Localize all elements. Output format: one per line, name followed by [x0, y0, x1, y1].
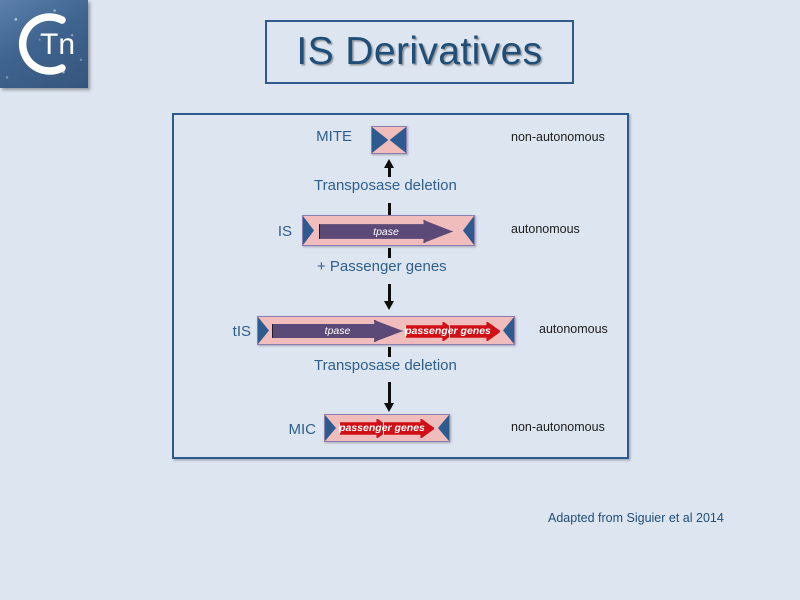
- transition-label-transposase-deletion-upper: Transposase deletion: [310, 177, 461, 194]
- inverted-repeat-left-icon: [258, 317, 269, 344]
- inverted-repeat-left-icon: [372, 127, 388, 153]
- tncentral-logo: Tn: [0, 0, 88, 88]
- gene-arrow-body: [272, 320, 403, 342]
- logo-tn-text: Tn: [40, 28, 75, 61]
- page-title: IS Derivatives: [296, 30, 542, 74]
- diagram-row-tis: tIS tpase passenger genes autonomous: [174, 314, 627, 354]
- transition-label-passenger-genes: + Passenger genes: [313, 258, 451, 275]
- diagram-frame: MITE non-autonomous Transposase deletion…: [172, 113, 629, 459]
- row-label-mite: MITE: [292, 128, 352, 145]
- connector-segment: [388, 284, 391, 302]
- transition-label-transposase-deletion-lower: Transposase deletion: [310, 357, 461, 374]
- inverted-repeat-left-icon: [325, 415, 336, 441]
- diagram-row-is: IS tpase autonomous: [174, 214, 627, 254]
- connector-segment: [388, 382, 391, 404]
- row-status-mic: non-autonomous: [511, 420, 605, 434]
- footer-attribution: Adapted from Siguier et al 2014: [548, 511, 724, 525]
- row-status-tis: autonomous: [539, 322, 608, 336]
- diagram-row-mic: MIC passenger genes non-autonomous: [174, 412, 627, 452]
- element-mic[interactable]: passenger genes: [324, 414, 450, 442]
- gene-arrow-body: [319, 220, 453, 243]
- inverted-repeat-right-icon: [463, 216, 474, 245]
- row-label-mic: MIC: [278, 421, 316, 438]
- gene-label-passenger-genes: passenger genes: [405, 325, 491, 337]
- diagram-row-mite: MITE non-autonomous: [174, 115, 627, 155]
- arrowhead-down-icon: [384, 301, 394, 310]
- inverted-repeat-right-icon: [390, 127, 406, 153]
- element-tis[interactable]: tpase passenger genes: [257, 316, 515, 345]
- gene-label-passenger-genes: passenger genes: [339, 422, 425, 434]
- row-status-mite: non-autonomous: [511, 130, 605, 144]
- arrowhead-up-icon: [384, 159, 394, 168]
- element-mite[interactable]: [371, 126, 407, 154]
- element-is[interactable]: tpase: [302, 215, 475, 246]
- inverted-repeat-left-icon: [303, 216, 314, 245]
- row-label-is: IS: [262, 223, 292, 240]
- logo-glyph: Tn: [0, 0, 88, 88]
- inverted-repeat-right-icon: [503, 317, 514, 344]
- slide-title-box: IS Derivatives: [265, 20, 574, 84]
- row-label-tis: tIS: [219, 323, 251, 340]
- gene-arrow-tpase[interactable]: tpase: [319, 220, 453, 243]
- arrowhead-down-icon: [384, 403, 394, 412]
- gene-arrow-tpase[interactable]: tpase: [272, 320, 403, 342]
- row-status-is: autonomous: [511, 222, 580, 236]
- inverted-repeat-right-icon: [438, 415, 449, 441]
